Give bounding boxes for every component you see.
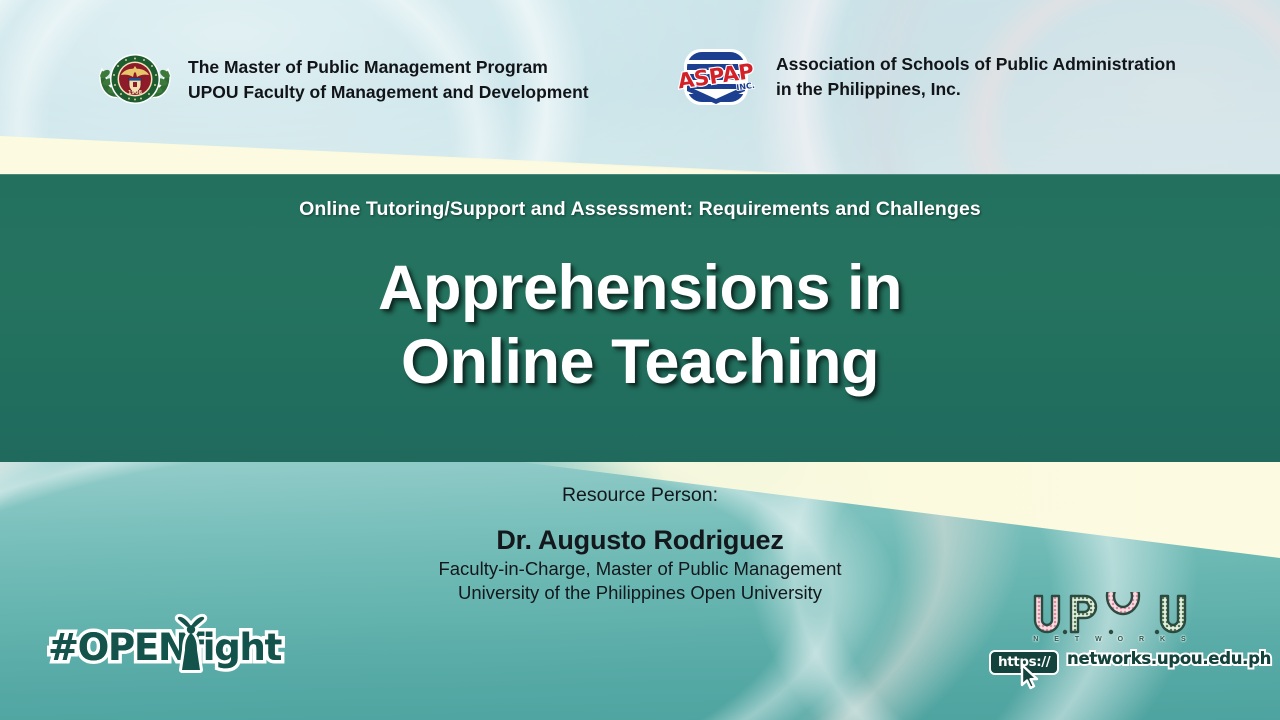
upou-wordmark-icon	[1029, 592, 1199, 642]
header-left-text: The Master of Public Management Program …	[188, 55, 589, 105]
oblation-statue-icon	[168, 606, 214, 678]
presentation-slide: 1908 The Master of Public Management Pro…	[0, 0, 1280, 720]
title-line-2: Online Teaching	[0, 326, 1280, 400]
url-host[interactable]: networks.upou.edu.ph	[1067, 649, 1271, 668]
svg-text:1908: 1908	[128, 90, 142, 96]
title-band: Online Tutoring/Support and Assessment: …	[0, 174, 1280, 462]
resource-person-label: Resource Person:	[0, 484, 1280, 507]
openfight-text: #OPENfight	[48, 626, 248, 669]
header-right-line2: in the Philippines, Inc.	[776, 77, 1176, 102]
header-right-group: ASPAP INC. Association of Schools of Pub…	[678, 47, 1176, 107]
svg-text:INC.: INC.	[736, 81, 756, 93]
header-right-text: Association of Schools of Public Adminis…	[776, 52, 1176, 102]
up-seal-icon: 1908	[96, 47, 174, 113]
session-subtitle: Online Tutoring/Support and Assessment: …	[0, 198, 1280, 221]
header-left-line1: The Master of Public Management Program	[188, 55, 589, 80]
resource-person-block: Resource Person: Dr. Augusto Rodriguez F…	[0, 484, 1280, 604]
aspap-logo-icon: ASPAP INC.	[678, 47, 762, 107]
resource-person-affiliation-1: Faculty-in-Charge, Master of Public Mana…	[0, 558, 1280, 580]
header-right-line1: Association of Schools of Public Adminis…	[776, 52, 1176, 77]
presentation-title: Apprehensions in Online Teaching	[0, 252, 1280, 399]
openfight-logo: #OPENfight #OPENfight	[48, 612, 248, 678]
header-left-line2: UPOU Faculty of Management and Developme…	[188, 80, 589, 105]
header-left-group: 1908 The Master of Public Management Pro…	[96, 47, 589, 113]
resource-person-name: Dr. Augusto Rodriguez	[0, 525, 1280, 556]
cream-wedge-top-solid	[0, 136, 900, 176]
upou-networks-logo[interactable]: N E T W O R K S https:// networks.upou.e…	[985, 592, 1247, 684]
upou-networks-subtitle: N E T W O R K S	[1031, 636, 1195, 643]
upou-url-badge[interactable]: https:// networks.upou.edu.ph networks.u…	[985, 646, 1247, 680]
title-line-1: Apprehensions in	[0, 252, 1280, 326]
mouse-pointer-icon	[1019, 664, 1041, 690]
